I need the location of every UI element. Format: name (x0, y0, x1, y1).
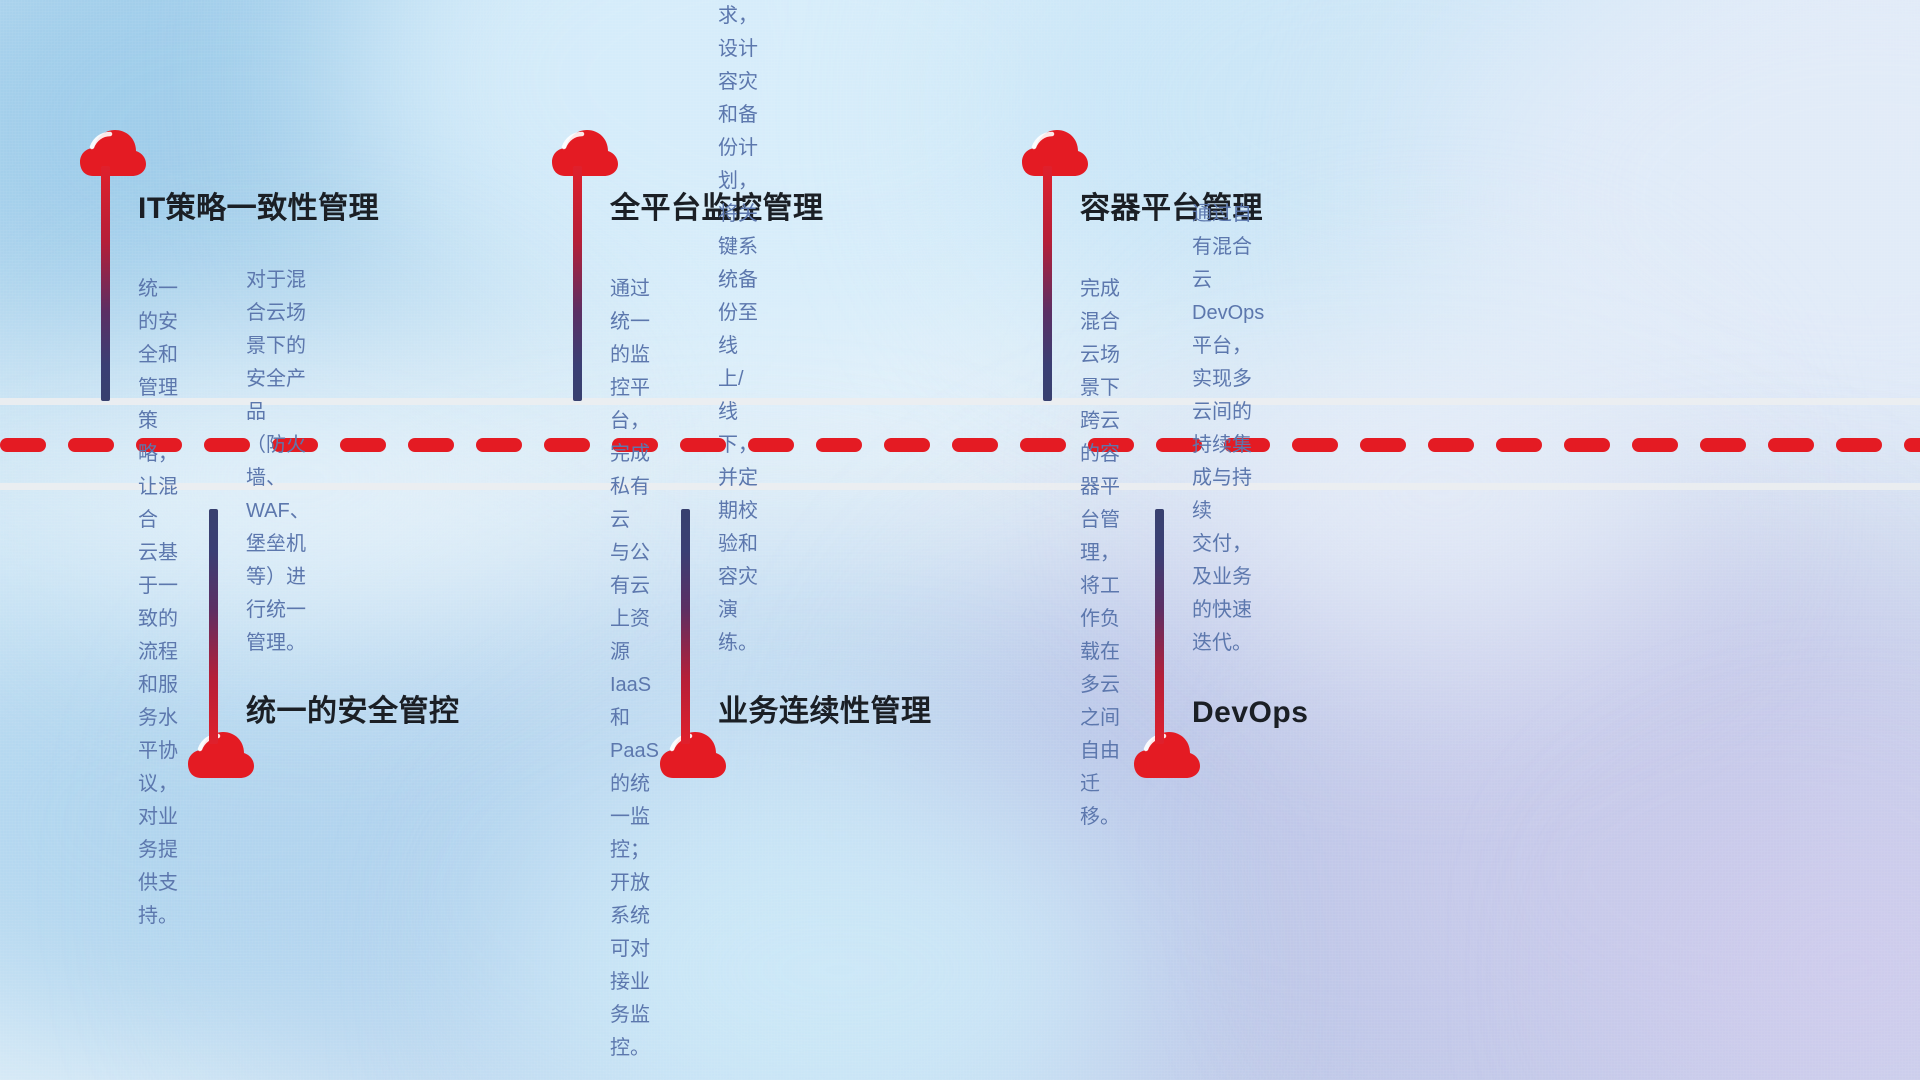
connector-line (209, 509, 218, 744)
divider-dash (1564, 438, 1610, 452)
divider-dash (476, 438, 522, 452)
divider-dash (816, 438, 862, 452)
divider-dash (1632, 438, 1678, 452)
feature-description: 对于混合云场景下的安全产品 （防火墙、WAF、堡垒机等）进 行统一管理。 (246, 264, 310, 660)
divider-dash (1904, 438, 1920, 452)
connector-line (573, 166, 582, 401)
feature-description: 完成混合云场景下跨云的容器平 台管理，将工作负载在多云之间 自由迁移。 (1080, 273, 1120, 834)
divider-dash (1768, 438, 1814, 452)
feature-title: IT策略一致性管理 (138, 183, 379, 227)
feature-description: 通过自有混合云DevOps平台， 实现多云间的持续集成与持续 交付，及业务的快速… (1192, 198, 1264, 660)
feature-description: 统一的安全和管理策略，让混合 云基于一致的流程和服务水平协 议，对业务提供支持。 (138, 273, 178, 933)
divider-dash (952, 438, 998, 452)
divider-dash (1700, 438, 1746, 452)
divider-dash (1428, 438, 1474, 452)
connector-line (681, 509, 690, 744)
connector-line (1043, 166, 1052, 401)
feature-description: 通过统一的监控平台，完成私有云 与公有云上资源IaaS和PaaS的统 一监控；开… (610, 273, 659, 1065)
divider-dash (1360, 438, 1406, 452)
divider-dash (408, 438, 454, 452)
cloud-icon (1134, 732, 1200, 780)
divider-dash (1020, 438, 1066, 452)
feature-description: 根据业务连续性要求，设计容灾 和备份计划，将关键系统备份至 线上/线下，并定期校… (718, 0, 758, 660)
divider-dash (68, 438, 114, 452)
divider-dash (1836, 438, 1882, 452)
divider-dash (340, 438, 386, 452)
connector-line (1155, 509, 1164, 744)
connector-line (101, 166, 110, 401)
feature-title: 统一的安全管控 (246, 686, 460, 730)
divider-dash (544, 438, 590, 452)
cloud-icon (552, 130, 618, 178)
divider-dash (1292, 438, 1338, 452)
divider-dash (1496, 438, 1542, 452)
cloud-icon (660, 732, 726, 780)
divider-dash (884, 438, 930, 452)
divider-dash (0, 438, 46, 452)
cloud-icon (188, 732, 254, 780)
cloud-icon (1022, 130, 1088, 178)
feature-title: 全平台监控管理 (610, 183, 824, 227)
feature-title: DevOps (1192, 696, 1308, 730)
divider-dash (204, 438, 250, 452)
cloud-icon (80, 130, 146, 178)
feature-title: 业务连续性管理 (718, 686, 932, 730)
